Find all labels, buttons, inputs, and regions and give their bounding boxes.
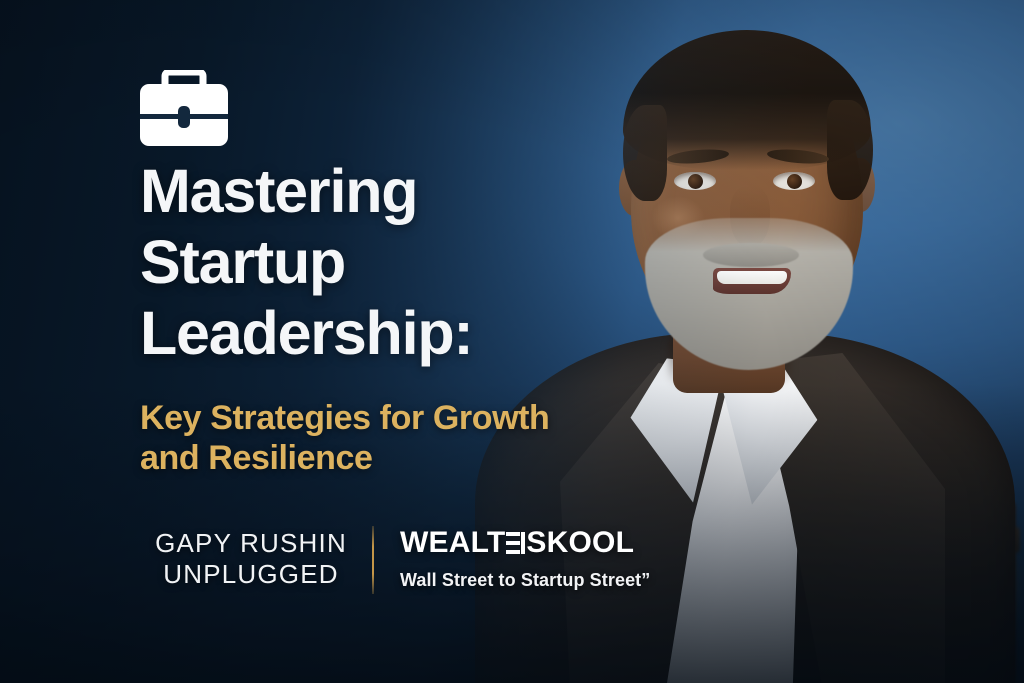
text-content-column: Mastering Startup Leadership: Key Strate… — [138, 0, 678, 683]
brand-show-line-1: GAPY RUSHIN — [138, 528, 364, 559]
brand-show-line-2: UNPLUGGED — [138, 559, 364, 590]
brand-partner-name-part2: SKOOL — [526, 526, 634, 560]
briefcase-icon — [138, 70, 230, 150]
title-line-1: Mastering — [140, 156, 610, 227]
brand-show-name: GAPY RUSHIN UNPLUGGED — [138, 522, 364, 590]
podcast-cover-canvas: Mastering Startup Leadership: Key Strate… — [0, 0, 1024, 683]
stylized-h-glyph — [506, 532, 525, 554]
subtitle-line-1: Key Strategies for Growth — [140, 398, 660, 438]
brand-lockup: GAPY RUSHIN UNPLUGGED WEALT SKOOL Wall S… — [138, 522, 678, 612]
page-title: Mastering Startup Leadership: — [140, 156, 610, 369]
subtitle-line-2: and Resilience — [140, 438, 660, 478]
brand-tagline: Wall Street to Startup Street” — [400, 569, 650, 591]
brand-partner: WEALT SKOOL Wall Street to Startup Stree… — [400, 522, 650, 591]
brand-partner-name: WEALT SKOOL — [400, 526, 650, 560]
brand-partner-name-part1: WEALT — [400, 526, 505, 560]
page-subtitle: Key Strategies for Growth and Resilience — [140, 398, 660, 478]
title-line-2: Startup — [140, 227, 610, 298]
title-line-3: Leadership: — [140, 298, 610, 369]
brand-divider — [372, 526, 374, 594]
